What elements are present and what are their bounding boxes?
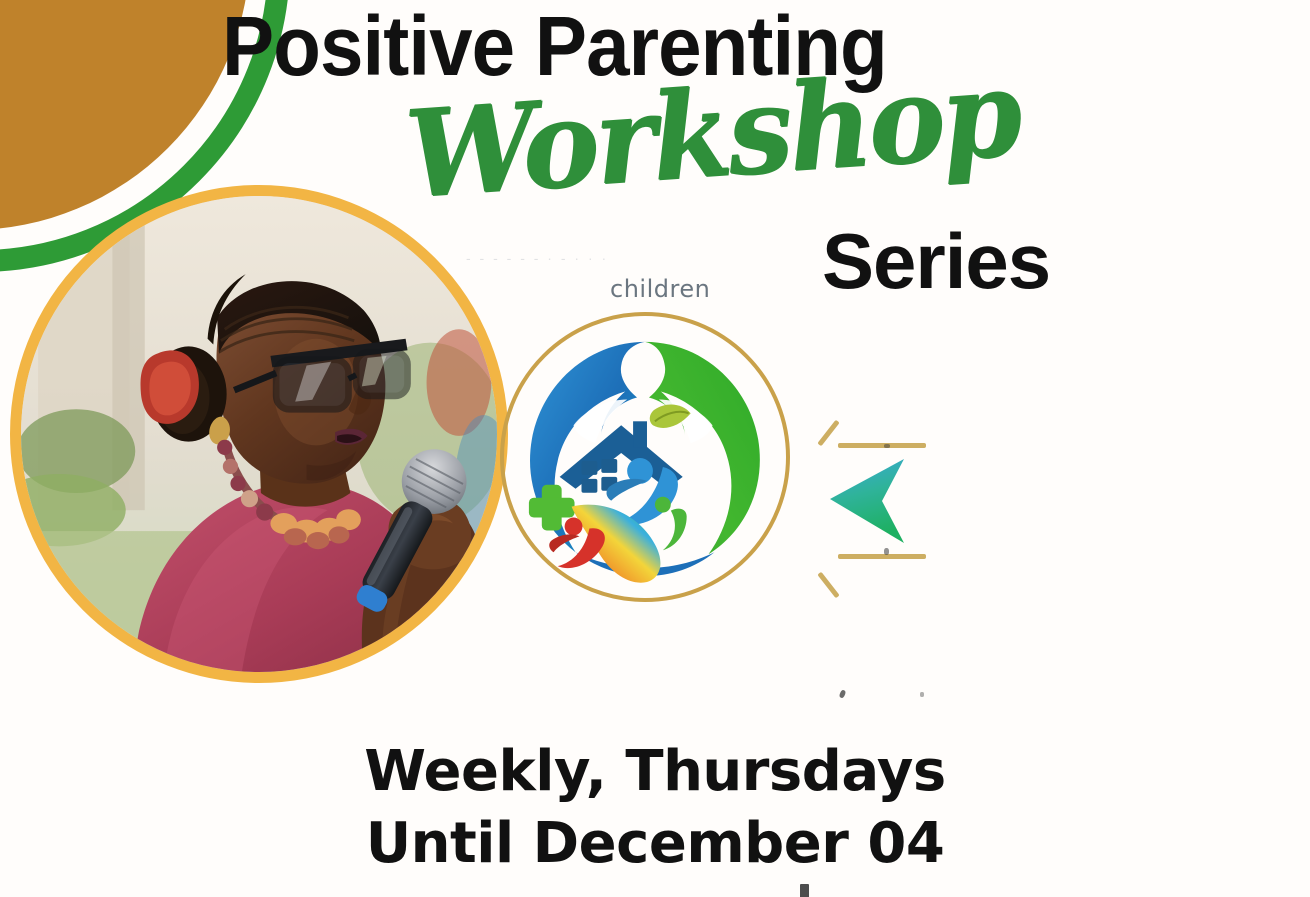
- chevron-left-icon: [826, 455, 908, 547]
- chevron-left-icon-shape: [826, 455, 908, 547]
- speaker-photo-illustration: [21, 196, 497, 672]
- organization-logo: [516, 330, 774, 588]
- page-title-workshop-script: Workshop: [402, 53, 1021, 215]
- flyer-canvas: Positive Parenting Workshop Series - - -…: [0, 0, 1310, 897]
- connector-line-top-kink: [817, 420, 839, 447]
- organization-logo-illustration: [516, 330, 774, 588]
- page-title-series: Series: [822, 222, 1050, 300]
- schedule-line-until: Until December 04: [0, 807, 1310, 881]
- scan-speck-d: [884, 548, 889, 555]
- scan-speck-c: [884, 444, 890, 448]
- scan-speck-e: [800, 884, 809, 897]
- watermark-children-label: children: [610, 275, 710, 303]
- connector-line-top: [838, 443, 926, 448]
- schedule-line-weekly: Weekly, Thursdays: [0, 735, 1310, 809]
- scan-speck-a: [839, 689, 847, 698]
- schedule-block: Weekly, Thursdays Until December 04: [0, 735, 1310, 882]
- scan-speck-b: [920, 692, 924, 697]
- speaker-photo: [10, 185, 508, 683]
- connector-line-bottom: [838, 554, 926, 559]
- connector-line-bottom-kink: [817, 572, 839, 599]
- watermark-faint-line: - - - - - - · - · · ·: [466, 250, 609, 266]
